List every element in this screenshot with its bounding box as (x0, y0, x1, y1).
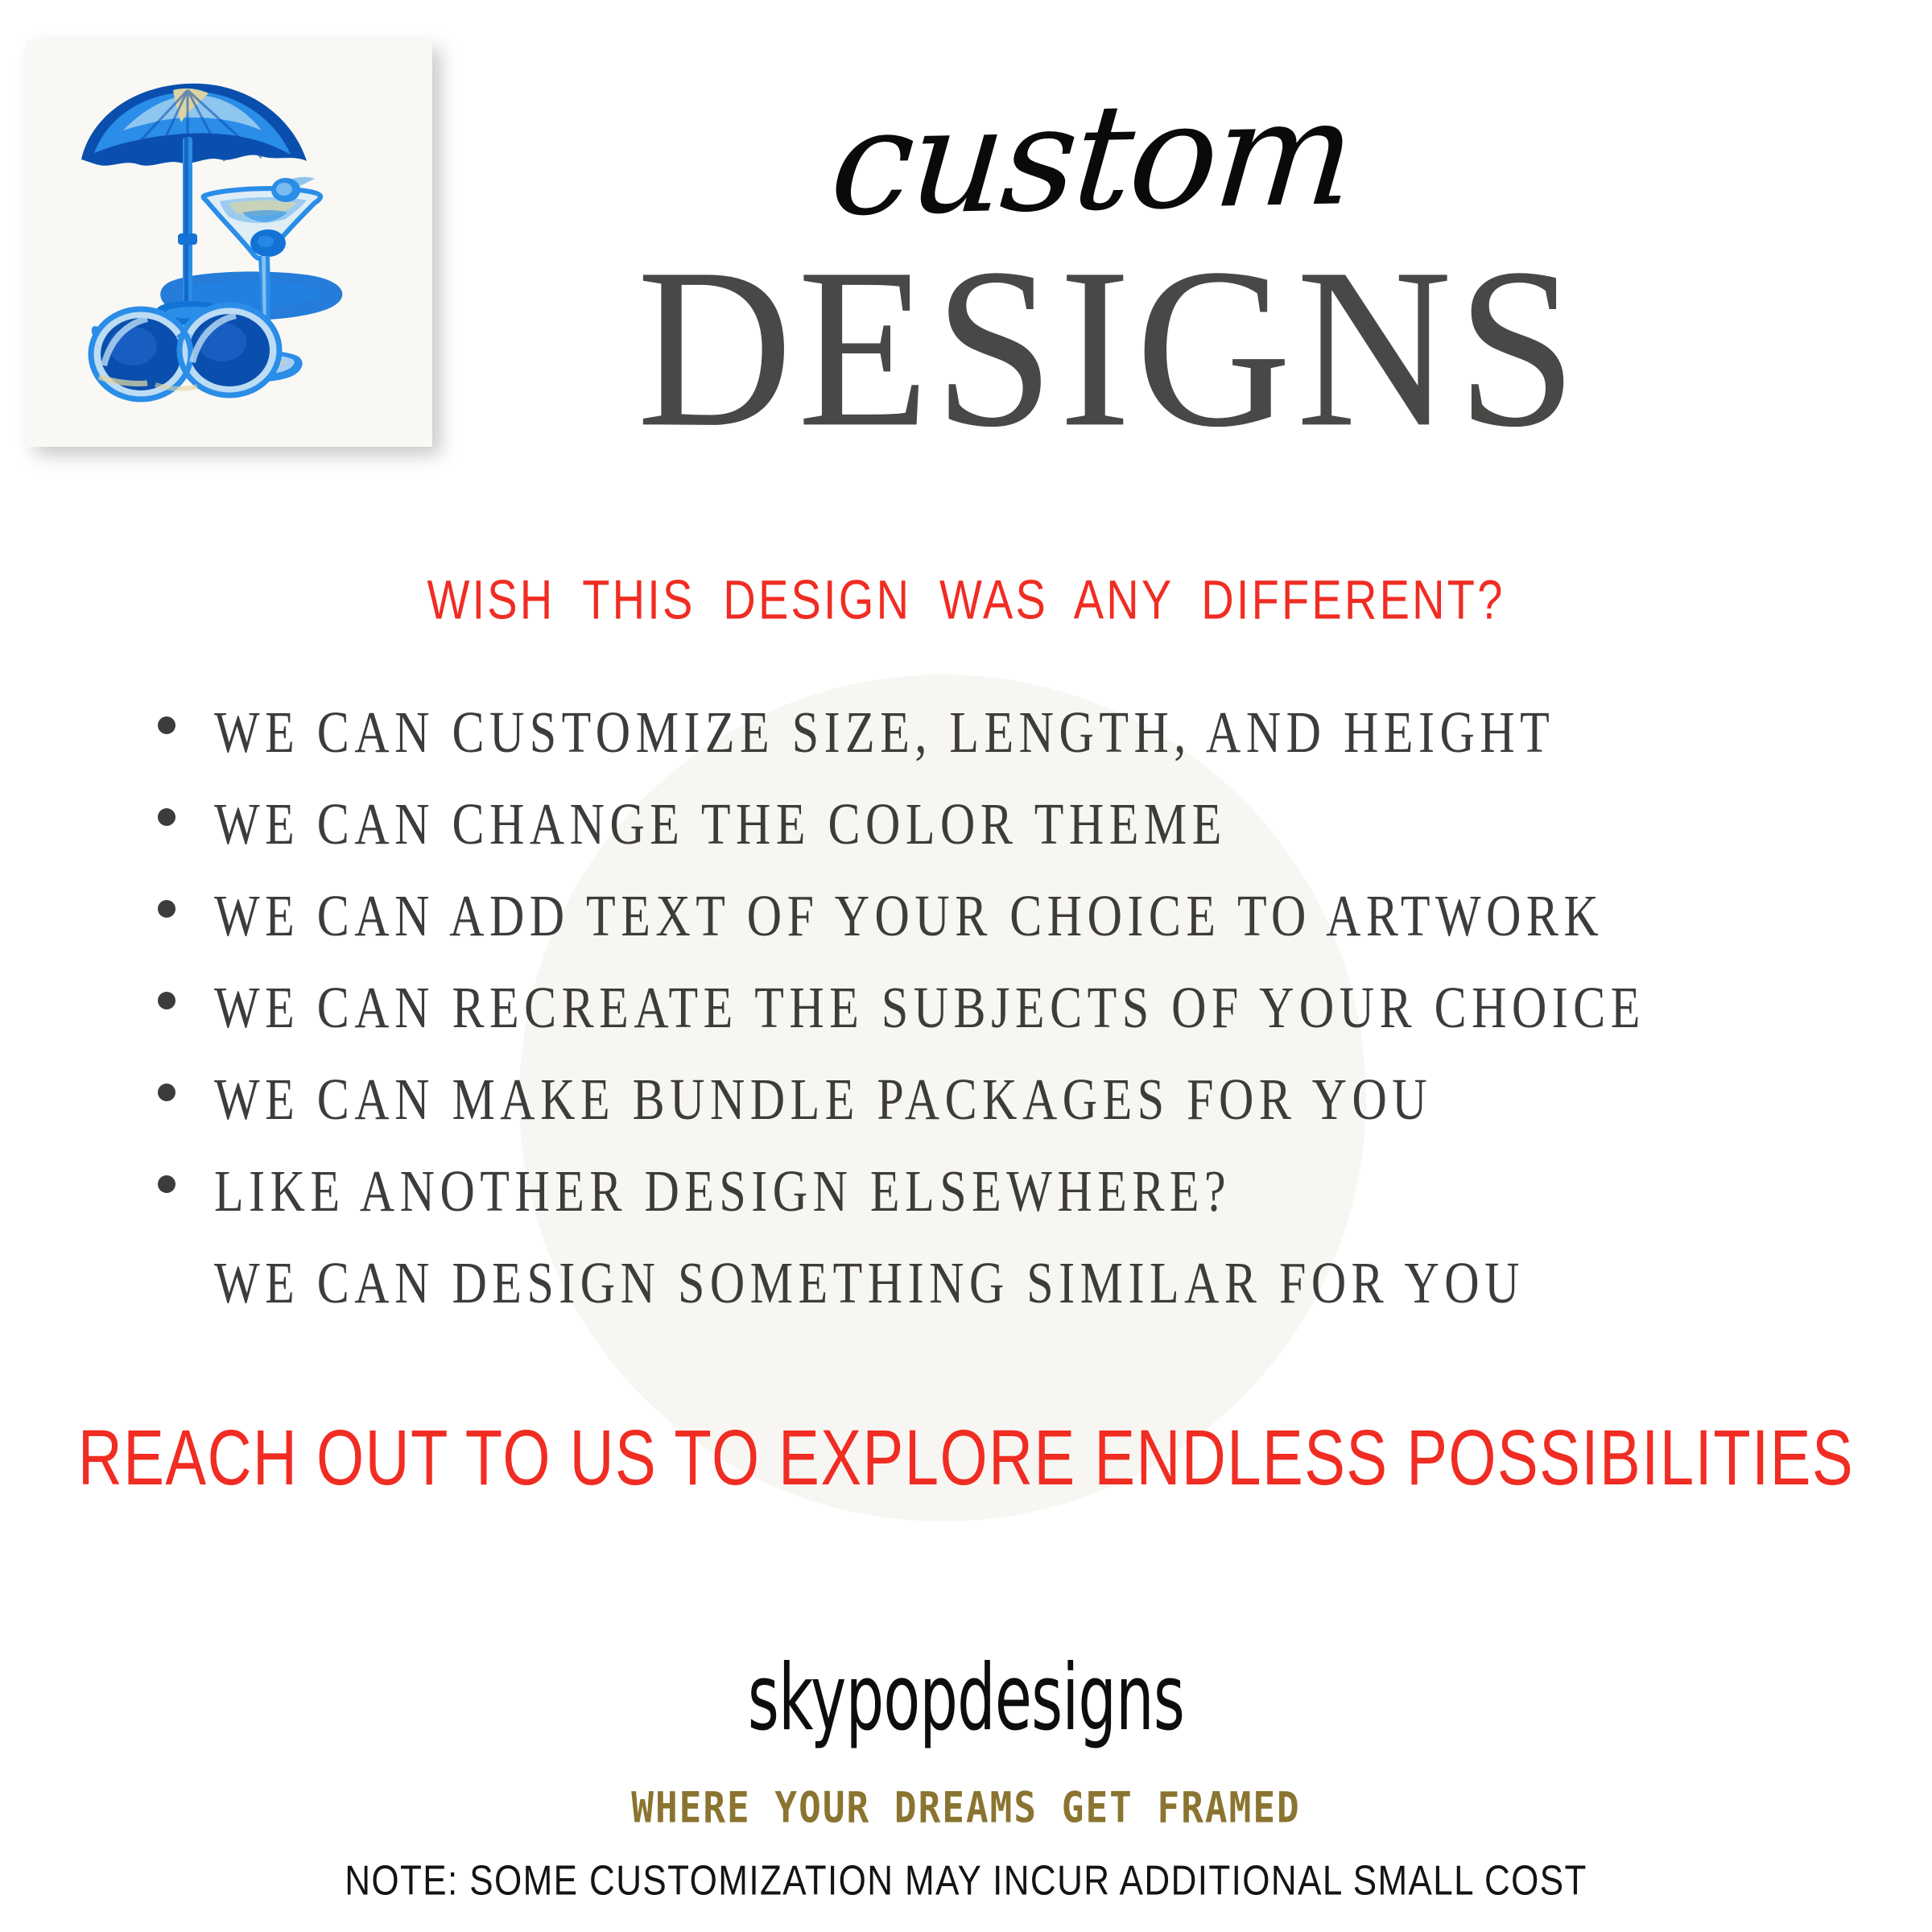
list-item-continuation: WE CAN DESIGN SOMETHING SIMILAR FOR YOU (158, 1240, 1816, 1335)
list-item-label: WE CAN CHANGE THE COLOR THEME (214, 781, 1227, 853)
headline-script-word: custom (421, 71, 1763, 245)
list-item-label: WE CAN RECREATE THE SUBJECTS OF YOUR CHO… (214, 964, 1645, 1037)
list-item: WE CAN CHANGE THE COLOR THEME (158, 781, 1816, 873)
feature-list: WE CAN CUSTOMIZE SIZE, LENGTH, AND HEIGH… (158, 689, 1816, 1335)
footer-note: NOTE: SOME CUSTOMIZATION MAY INCUR ADDIT… (0, 1858, 1932, 1905)
bullet-dot-icon (158, 1084, 175, 1101)
brand-logo: skypopdesigns (213, 1645, 1719, 1751)
list-item: LIKE ANOTHER DESIGN ELSEWHERE? (158, 1148, 1816, 1240)
promo-graphic-canvas: custom DESIGNS WISH THIS DESIGN WAS ANY … (0, 0, 1932, 1932)
list-item: WE CAN ADD TEXT OF YOUR CHOICE TO ARTWOR… (158, 873, 1816, 964)
list-item-label: WE CAN CUSTOMIZE SIZE, LENGTH, AND HEIGH… (214, 689, 1554, 762)
list-item-label: WE CAN ADD TEXT OF YOUR CHOICE TO ARTWOR… (214, 873, 1604, 945)
list-item-label: WE CAN DESIGN SOMETHING SIMILAR FOR YOU (214, 1240, 1525, 1312)
headline-block: custom DESIGNS (451, 85, 1755, 451)
subtitle-question: WISH THIS DESIGN WAS ANY DIFFERENT? (0, 568, 1932, 631)
list-item: WE CAN CUSTOMIZE SIZE, LENGTH, AND HEIGH… (158, 689, 1816, 781)
list-item: WE CAN MAKE BUNDLE PACKAGES FOR YOU (158, 1056, 1816, 1148)
bullet-dot-icon (158, 1175, 175, 1193)
artwork-thumbnail[interactable] (27, 40, 432, 447)
list-item-label: WE CAN MAKE BUNDLE PACKAGES FOR YOU (214, 1056, 1432, 1129)
call-to-action-text: REACH OUT TO US TO EXPLORE ENDLESS POSSI… (0, 1414, 1932, 1503)
bullet-dot-icon (158, 900, 175, 918)
bullet-dot-placeholder (158, 1267, 175, 1285)
brand-tagline: WHERE YOUR DREAMS GET FRAMED (0, 1782, 1932, 1832)
bullet-dot-icon (158, 716, 175, 734)
beach-still-life-illustration (27, 40, 432, 447)
list-item: WE CAN RECREATE THE SUBJECTS OF YOUR CHO… (158, 964, 1816, 1056)
bullet-dot-icon (158, 992, 175, 1009)
list-item-label: LIKE ANOTHER DESIGN ELSEWHERE? (214, 1148, 1231, 1220)
bullet-dot-icon (158, 808, 175, 826)
headline-serif-word: DESIGNS (464, 239, 1755, 456)
